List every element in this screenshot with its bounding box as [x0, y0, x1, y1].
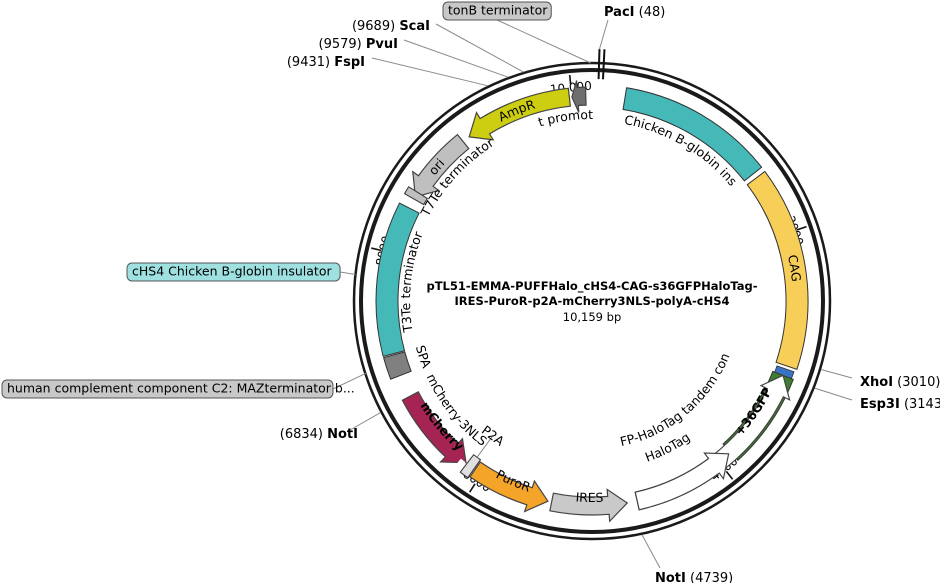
restriction-site-label: Esp3I (3143) [860, 397, 940, 412]
label-chs4-insulator-left[interactable]: cHS4 Chicken B-globin insulator [127, 263, 340, 281]
restriction-site-label: NotI (4739) [655, 571, 733, 583]
restriction-site-leader [350, 413, 381, 430]
origin-tick [603, 49, 604, 79]
restriction-site-label: (9579) PvuI [319, 37, 398, 52]
label-tonb-terminator[interactable]: tonB terminator [443, 2, 551, 20]
feature-label-ires: IRES [575, 489, 604, 505]
plasmid-map-canvas: 200040006000800010,000 cHS4 Chicken B-gl… [0, 0, 940, 583]
restriction-site-leader [599, 20, 608, 49]
label-human-complement-c2[interactable]: human complement component C2: MAZtermin… [2, 380, 355, 398]
feature-spa[interactable] [384, 352, 412, 379]
center-title-layer: pTL51-EMMA-PUFFHalo_cHS4-CAG-s36GFPHaloT… [426, 279, 757, 324]
restriction-site-leader [642, 535, 660, 568]
restriction-site-label: (9431) FspI [287, 55, 365, 70]
restriction-site-esp3i-3143[interactable]: Esp3I (3143) [815, 388, 940, 411]
label-human-complement-c2-text: human complement component C2: MAZtermin… [7, 381, 355, 396]
label-chs4-insulator-left-leader [340, 272, 355, 274]
restriction-site-leader [372, 58, 488, 86]
restriction-site-noti-6834[interactable]: (6834) NotI [280, 413, 381, 442]
restriction-site-leader [404, 40, 508, 77]
plasmid-title-line2: IRES-PuroR-p2A-mCherry3NLS-polyA-cHS4 [455, 294, 730, 308]
label-tonb-terminator-text: tonB terminator [448, 3, 548, 18]
restriction-site-label: (6834) NotI [280, 427, 358, 442]
plasmid-size-label: 10,159 bp [563, 310, 622, 324]
restriction-site-leader [821, 370, 852, 378]
restriction-site-leader [436, 24, 523, 72]
restriction-site-label: XhoI (3010) [860, 375, 940, 390]
restriction-site-leader [815, 388, 852, 400]
restriction-site-label: (9689) ScaI [352, 19, 430, 34]
feature-label-spa: SPA [413, 344, 435, 371]
restriction-site-paci-48[interactable]: PacI (48) [599, 5, 666, 80]
label-chs4-insulator-left-text: cHS4 Chicken B-globin insulator [132, 264, 332, 279]
restriction-site-tick [599, 49, 600, 79]
label-tonb-terminator-leader [497, 20, 591, 63]
restriction-site-noti-4739[interactable]: NotI (4739) [642, 535, 733, 583]
restriction-site-xhoi-3010[interactable]: XhoI (3010) [821, 370, 940, 390]
boxed-label-layer: cHS4 Chicken B-globin insulatorhuman com… [2, 2, 551, 398]
plasmid-map-svg: 200040006000800010,000 cHS4 Chicken B-gl… [0, 0, 940, 583]
restriction-site-label: PacI (48) [604, 5, 665, 20]
feature-chs4-chicken-b-globin-insulator[interactable] [623, 88, 762, 181]
plasmid-title-line1: pTL51-EMMA-PUFFHalo_cHS4-CAG-s36GFPHaloT… [426, 279, 757, 294]
